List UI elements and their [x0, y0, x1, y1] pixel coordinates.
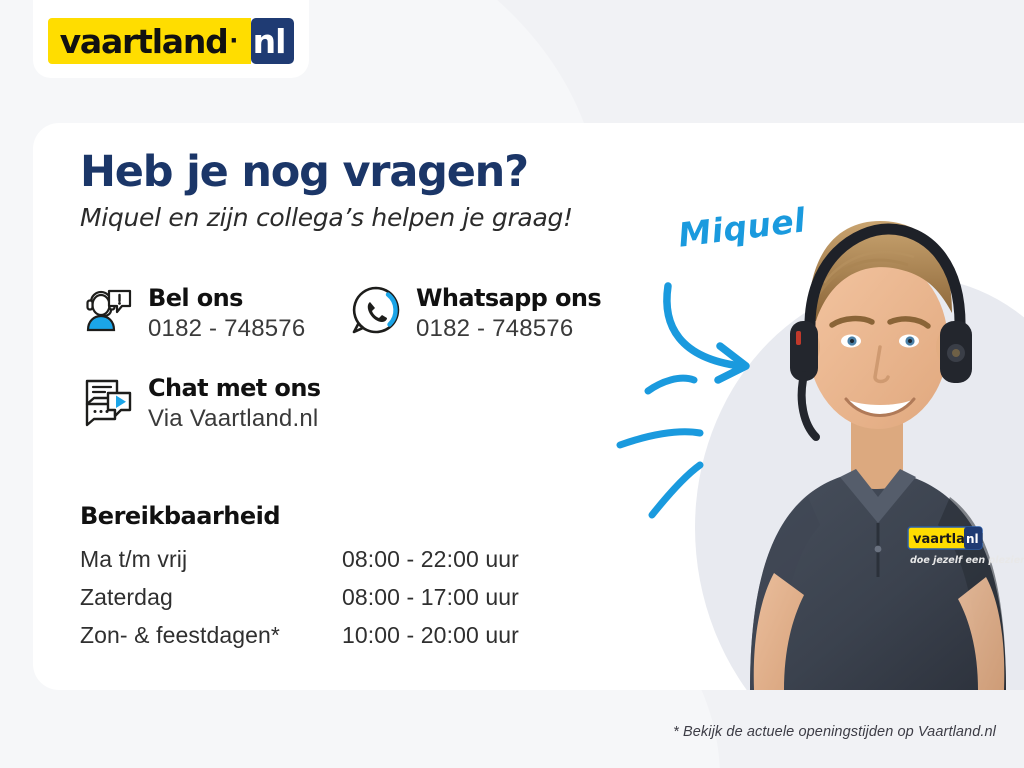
svg-text:nl: nl [966, 532, 979, 546]
agent-photo-area: Miquel [600, 123, 1024, 690]
page-title: Heb je nog vragen? [80, 150, 600, 195]
site-logo-card[interactable]: vaartland · nl [33, 0, 309, 78]
table-row: Zon- & feestdagen* 10:00 - 20:00 uur [80, 622, 519, 660]
contact-whatsapp-title: Whatsapp ons [416, 285, 601, 313]
table-row: Zaterdag 08:00 - 17:00 uur [80, 584, 519, 622]
contact-chat-text: Chat met ons Via Vaartland.nl [148, 372, 321, 433]
logo-yellow-block: vaartland · [48, 18, 251, 64]
chat-bubbles-icon [80, 372, 136, 428]
footnote: * Bekijk de actuele openingstijden op Va… [673, 724, 996, 740]
promo-banner: Miquel [0, 0, 1024, 768]
logo-blue-block: nl [251, 18, 295, 64]
vaartland-logo[interactable]: vaartland · nl [48, 18, 295, 64]
table-row: Ma t/m vrij 08:00 - 22:00 uur [80, 546, 519, 584]
contact-whatsapp-value[interactable]: 0182 - 748576 [416, 315, 601, 344]
hours-time: 10:00 - 20:00 uur [342, 622, 519, 660]
headset-person-icon [80, 282, 136, 338]
hours-day: Zaterdag [80, 584, 342, 622]
hero-text: Heb je nog vragen? Miquel en zijn colleg… [80, 150, 600, 232]
contact-whatsapp-text: Whatsapp ons 0182 - 748576 [416, 282, 601, 343]
hours-time: 08:00 - 17:00 uur [342, 584, 519, 622]
hours-time: 08:00 - 22:00 uur [342, 546, 519, 584]
logo-wordmark: vaartland [60, 25, 228, 58]
shirt-logo: vaartland nl doe jezelf een plezier [908, 527, 1024, 566]
contact-call-title: Bel ons [148, 285, 305, 313]
contact-chat-value[interactable]: Via Vaartland.nl [148, 405, 321, 434]
contact-call[interactable]: Bel ons 0182 - 748576 [80, 282, 305, 343]
page-subtitle: Miquel en zijn collega’s helpen je graag… [80, 203, 600, 232]
contact-chat[interactable]: Chat met ons Via Vaartland.nl [80, 372, 321, 433]
contact-call-value[interactable]: 0182 - 748576 [148, 315, 305, 344]
logo-dot: · [228, 26, 241, 56]
opening-hours-title: Bereikbaarheid [80, 502, 560, 530]
hours-day: Ma t/m vrij [80, 546, 342, 584]
logo-tld: nl [253, 25, 286, 58]
whatsapp-icon [348, 282, 404, 338]
svg-text:doe jezelf een plezier: doe jezelf een plezier [910, 555, 1024, 566]
hours-day: Zon- & feestdagen* [80, 622, 342, 660]
contact-chat-title: Chat met ons [148, 375, 321, 403]
contact-whatsapp[interactable]: Whatsapp ons 0182 - 748576 [348, 282, 601, 343]
opening-hours-table: Ma t/m vrij 08:00 - 22:00 uur Zaterdag 0… [80, 546, 519, 660]
contact-call-text: Bel ons 0182 - 748576 [148, 282, 305, 343]
opening-hours: Bereikbaarheid Ma t/m vrij 08:00 - 22:00… [80, 502, 560, 660]
agent-figure: vaartland nl doe jezelf een plezier [712, 125, 1024, 690]
